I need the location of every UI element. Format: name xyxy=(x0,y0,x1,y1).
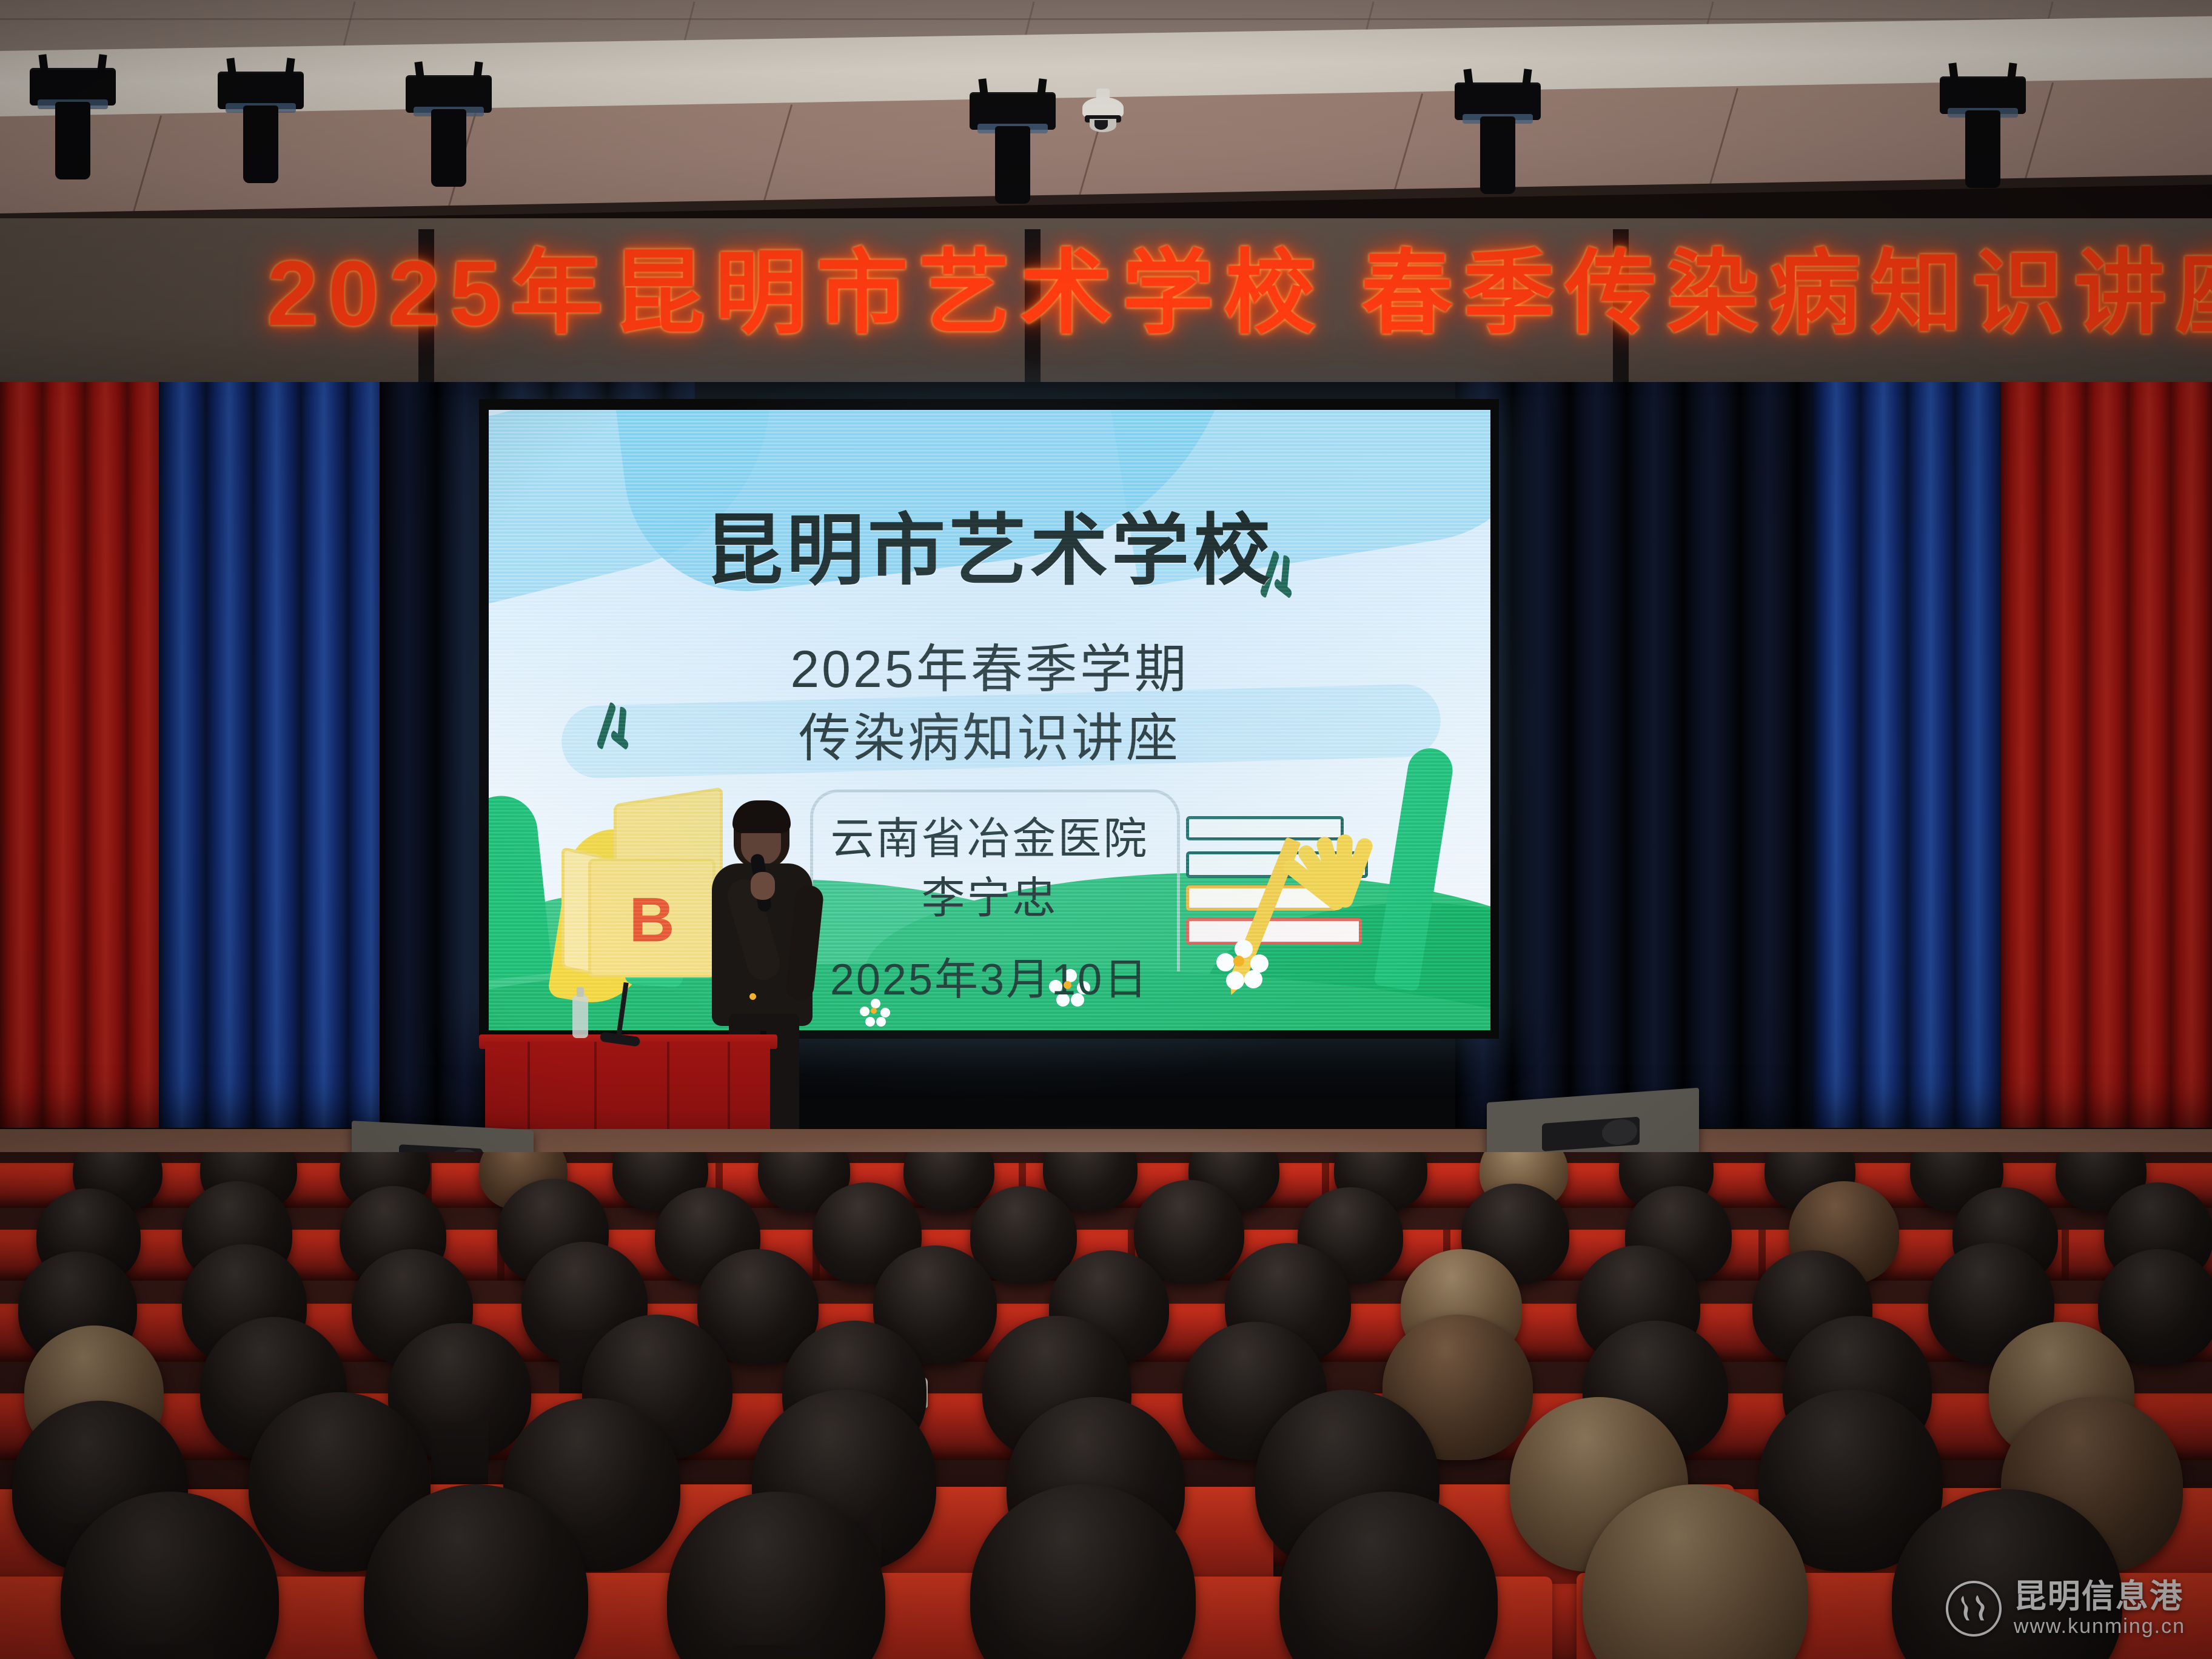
light-body xyxy=(995,126,1030,204)
light-body xyxy=(1480,116,1515,194)
watermark-site-name: 昆明信息港 xyxy=(2014,1580,2185,1614)
speaker-hand xyxy=(751,872,775,900)
curtain-dark-right xyxy=(1455,382,1831,1128)
watermark-site-url: www.kunming.cn xyxy=(2014,1616,2185,1637)
audience-seating xyxy=(0,1152,2212,1659)
slide-subtitle-line1: 2025年春季学期 xyxy=(790,640,1188,699)
presentation-slide: B xyxy=(489,410,1490,1030)
slide-credit-org: 云南省冶金医院 xyxy=(830,815,1148,863)
led-projection-screen: B xyxy=(479,399,1499,1039)
auditorium-photo: 2025年昆明市艺术学校 春季传染病知识讲座 xyxy=(0,0,2212,1659)
dome-camera-icon xyxy=(1082,89,1124,133)
slide-credit-person: 李宁忠 xyxy=(921,874,1057,923)
curtain-blue-right xyxy=(1813,382,2013,1128)
light-body xyxy=(55,102,90,179)
light-body xyxy=(431,109,466,187)
speaker-hair xyxy=(732,800,791,833)
audience-head xyxy=(970,1186,1077,1284)
curtain-red-right xyxy=(2001,382,2212,1128)
light-body xyxy=(243,106,278,183)
led-scrolling-banner: 2025年昆明市艺术学校 春季传染病知识讲座 xyxy=(0,229,2212,387)
light-body xyxy=(1965,110,2000,188)
slide-date: 2025年3月10日 xyxy=(489,943,1490,1007)
horse-logo-icon xyxy=(1946,1581,2002,1637)
watermark: 昆明信息港 www.kunming.cn xyxy=(1946,1580,2185,1637)
curtain-blue-left xyxy=(159,382,383,1128)
water-bottle xyxy=(572,996,588,1038)
slide-title: 昆明市艺术学校 xyxy=(489,488,1490,600)
watermark-text: 昆明信息港 www.kunming.cn xyxy=(2014,1580,2185,1637)
slide-subtitle: 2025年春季学期 传染病知识讲座 xyxy=(489,635,1490,773)
slide-subtitle-line2: 传染病知识讲座 xyxy=(489,705,1490,774)
curtain-red-left xyxy=(0,382,164,1128)
led-banner-text: 2025年昆明市艺术学校 春季传染病知识讲座 xyxy=(267,247,1868,340)
slide-credit: 云南省冶金医院 李宁忠 xyxy=(489,810,1490,929)
